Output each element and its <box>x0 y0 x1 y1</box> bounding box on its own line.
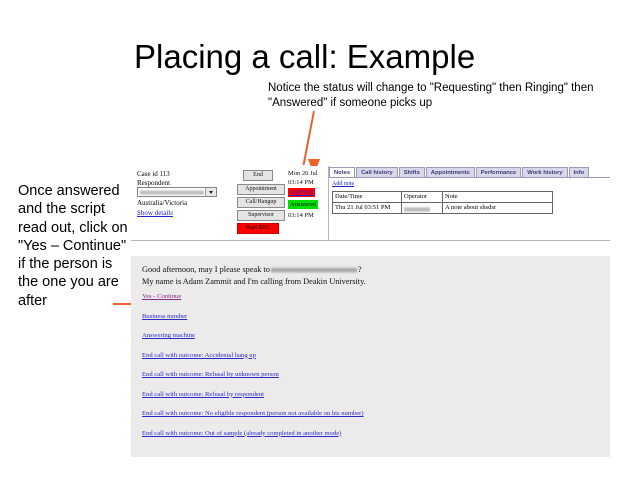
call-hangup-button[interactable]: Call/Hangup <box>237 197 285 208</box>
script-greeting-line1-after: ? <box>358 265 362 274</box>
page-title: Placing a call: Example <box>134 37 475 77</box>
status-badge-call-state: Answered <box>288 200 318 209</box>
redacted-operator-name <box>404 207 430 212</box>
start-rec-button[interactable]: Start REC <box>237 223 279 234</box>
script-link-no-eligible-respondent[interactable]: End call with outcome: No eligible respo… <box>142 410 592 418</box>
script-greeting: Good afternoon, may I please speak to? M… <box>142 264 366 287</box>
cell-note: A note about shsdsr <box>443 203 553 214</box>
end-button[interactable]: End <box>243 170 273 181</box>
annotation-click-yes-continue: Once answered and the script read out, c… <box>18 182 136 310</box>
table-row[interactable]: Thu 21 Jul 03:51 PM A note about shsdsr <box>333 203 553 214</box>
appointment-button[interactable]: Appointment <box>237 184 285 195</box>
script-link-answering-machine[interactable]: Answering machine <box>142 332 592 340</box>
script-panel: Good afternoon, may I please speak to? M… <box>131 256 610 457</box>
status-badge-voip[interactable]: VoIP Off <box>288 188 315 197</box>
respondent-label: Respondent <box>137 179 170 187</box>
script-greeting-line1-before: Good afternoon, may I please speak to <box>142 265 270 274</box>
status-time-top: 03:14 PM <box>288 179 314 186</box>
embedded-application-screenshot: Case id 113 Respondent Australia/Victori… <box>131 166 610 457</box>
supervisor-button[interactable]: Supervisor <box>237 210 285 221</box>
script-link-yes-continue[interactable]: Yes - Continue <box>142 293 592 301</box>
script-greeting-line2: My name is Adam Zammit and I'm calling f… <box>142 277 366 286</box>
cell-operator <box>402 203 443 214</box>
cell-datetime: Thu 21 Jul 03:51 PM <box>333 203 402 214</box>
case-info-panel: Case id 113 Respondent Australia/Victori… <box>131 166 329 241</box>
chevron-down-icon[interactable] <box>205 188 216 196</box>
script-outcome-links: Yes - Continue Business number Answering… <box>142 293 592 449</box>
notes-table: Date/Time Operator Note Thu 21 Jul 03:51… <box>332 191 553 214</box>
case-id-label: Case id 113 <box>137 170 170 178</box>
table-header-row: Date/Time Operator Note <box>333 192 553 203</box>
redacted-respondent-name-inline <box>271 267 357 273</box>
tab-strip-divider <box>329 177 610 178</box>
script-link-refusal-unknown-person[interactable]: End call with outcome: Refusal by unknow… <box>142 371 592 379</box>
script-link-business-number[interactable]: Business number <box>142 313 592 321</box>
add-note-link[interactable]: Add note <box>332 181 354 187</box>
script-link-out-of-sample[interactable]: End call with outcome: Out of sample (al… <box>142 430 592 438</box>
annotation-status-note: Notice the status will change to "Reques… <box>268 81 608 111</box>
column-header-operator: Operator <box>402 192 443 203</box>
timezone-label: Australia/Victoria <box>137 199 187 207</box>
script-link-accidental-hang-up[interactable]: End call with outcome: Accidental hang u… <box>142 352 592 360</box>
script-link-refusal-respondent[interactable]: End call with outcome: Refusal by respon… <box>142 391 592 399</box>
redacted-respondent-name <box>140 190 204 195</box>
tabs-panel: Notes Call history Shifts Appointments P… <box>329 166 610 241</box>
status-time-bottom: 03:14 PM <box>288 212 314 219</box>
respondent-select[interactable] <box>137 187 217 197</box>
status-date: Mon 20 Jul <box>288 170 318 177</box>
column-header-datetime: Date/Time <box>333 192 402 203</box>
column-header-note: Note <box>443 192 553 203</box>
show-details-link[interactable]: Show details <box>137 209 173 217</box>
